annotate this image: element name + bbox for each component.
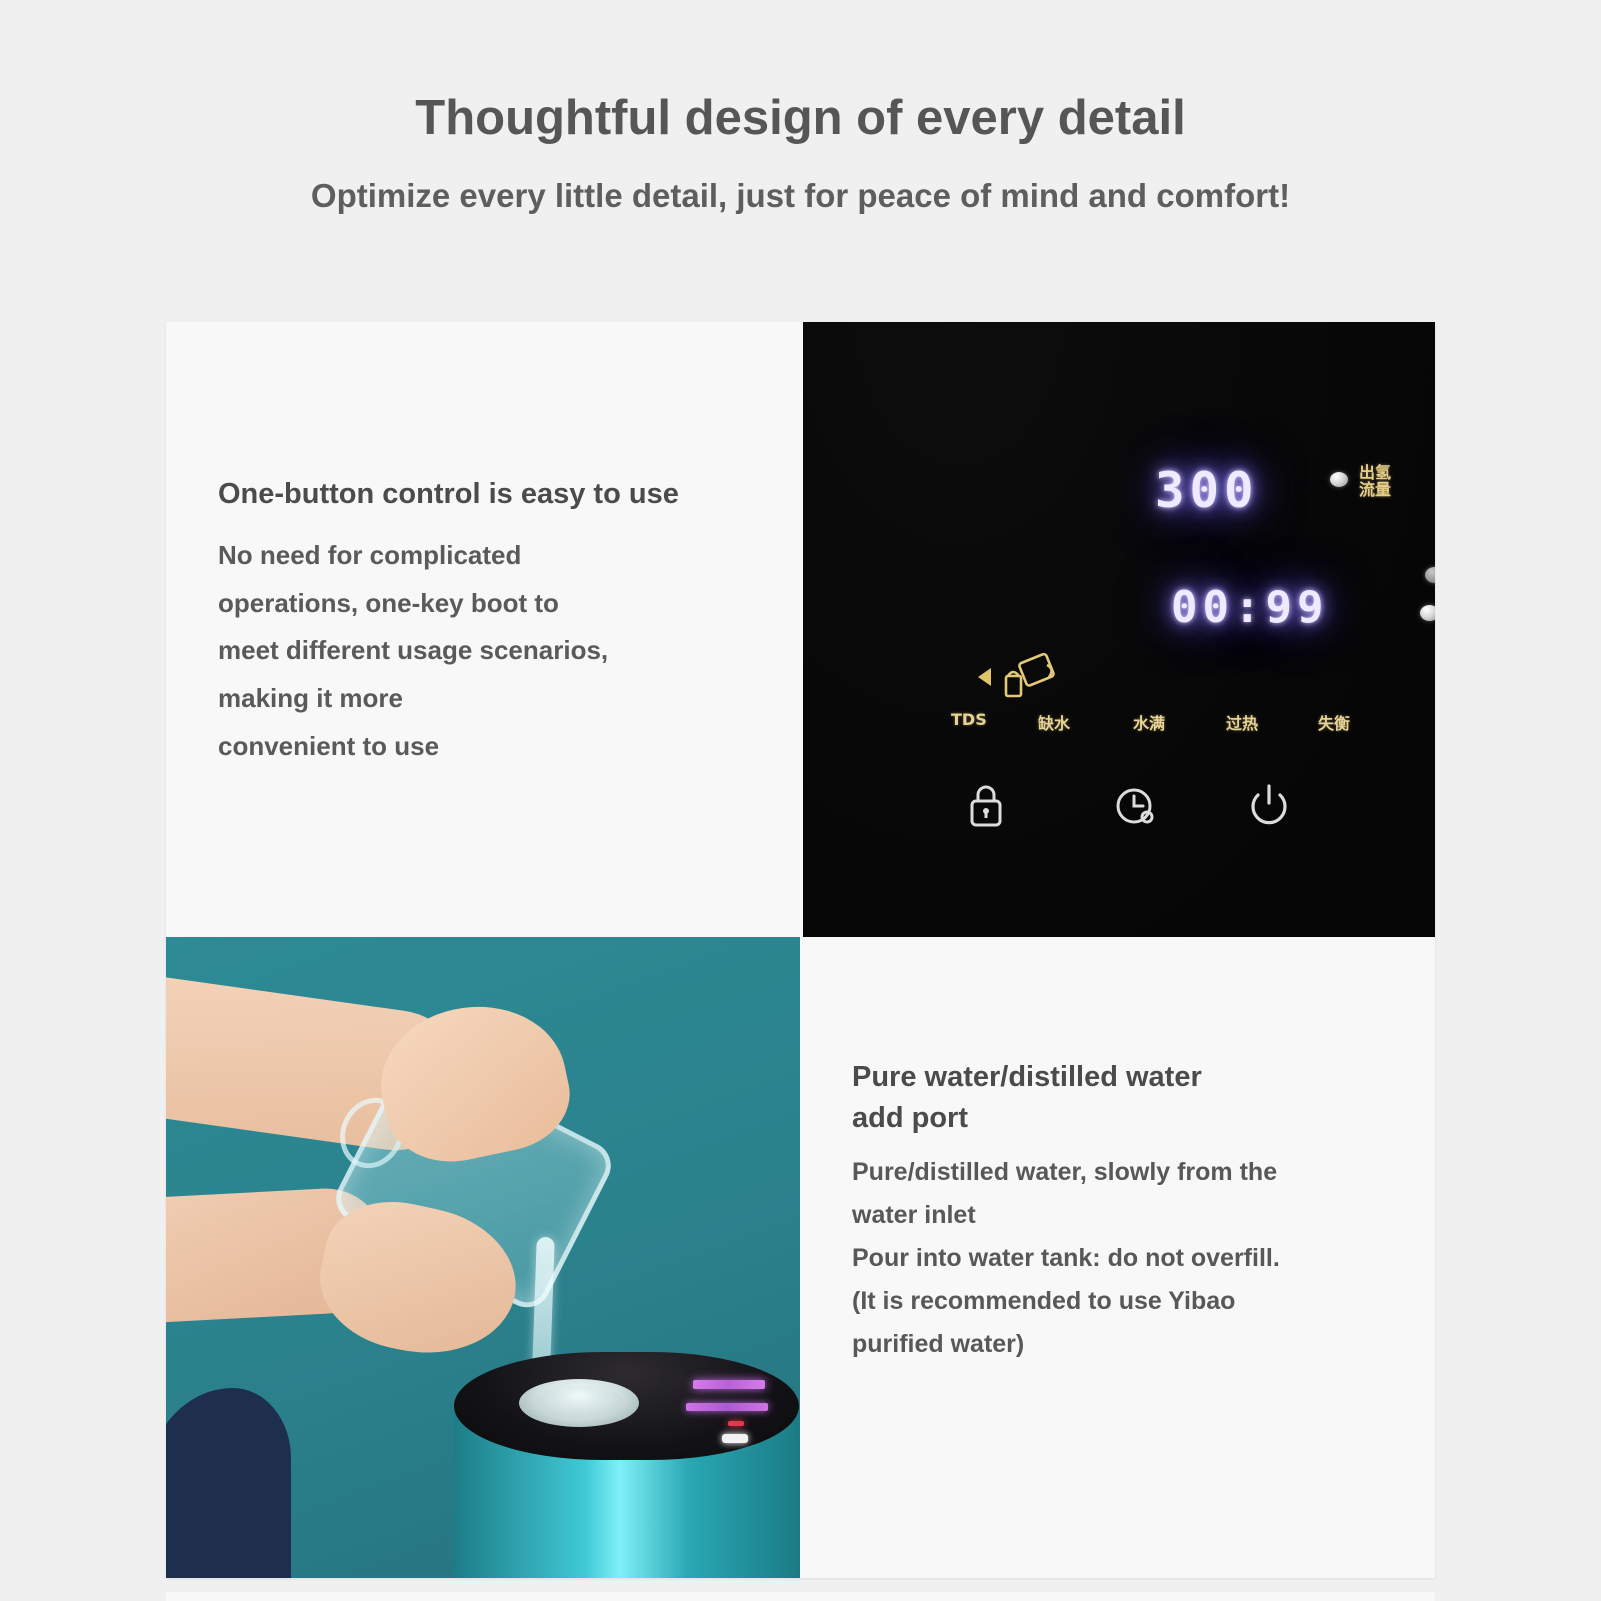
- status-label-tds: TDS: [951, 710, 987, 729]
- water-pouring-photo: [166, 937, 800, 1578]
- page-header: Thoughtful design of every detail Optimi…: [0, 0, 1601, 214]
- panel2-heading: Pure water/distilled water add port: [852, 1057, 1397, 1139]
- panel1-body-line: operations, one-key boot to: [218, 580, 818, 628]
- power-icon[interactable]: [1247, 782, 1293, 835]
- feature-panel-next-cropped: [166, 1592, 1435, 1601]
- status-label-imbalance: 失衡: [1318, 710, 1350, 734]
- water-inlet-inner: [535, 1386, 623, 1418]
- panel2-body-line: (It is recommended to use Yibao: [852, 1280, 1397, 1323]
- total-time-indicator-led: [1420, 605, 1435, 621]
- panel1-heading: One-button control is easy to use: [218, 477, 818, 512]
- panel1-body-line: convenient to use: [218, 723, 818, 771]
- panel1-body-line: making it more: [218, 675, 818, 723]
- panel2-body-line: Pour into water tank: do not overfill.: [852, 1237, 1397, 1280]
- device-led-red: [728, 1421, 744, 1426]
- panel1-text-block: One-button control is easy to use No nee…: [218, 477, 818, 771]
- lock-icon[interactable]: [965, 782, 1007, 835]
- panel2-body-line: purified water): [852, 1323, 1397, 1366]
- page-title: Thoughtful design of every detail: [0, 92, 1601, 146]
- timer-icon[interactable]: [1113, 784, 1161, 835]
- panel2-body-line: water inlet: [852, 1194, 1397, 1237]
- panel2-body-line: Pure/distilled water, slowly from the: [852, 1151, 1397, 1194]
- panel2-heading-line: Pure water/distilled water: [852, 1057, 1397, 1098]
- status-label-low-water: 缺水: [1038, 710, 1070, 734]
- product-detail-page: Thoughtful design of every detail Optimi…: [0, 0, 1601, 1601]
- left-triangle-marker: [978, 668, 991, 686]
- time-display: 00:99: [1171, 582, 1328, 633]
- hydrogen-flow-label: 出氢流量: [1359, 465, 1391, 499]
- person-shirt: [166, 1388, 291, 1578]
- panel1-body-line: No need for complicated: [218, 532, 818, 580]
- panel1-body: No need for complicated operations, one-…: [218, 532, 818, 771]
- control-panel-photo: 300 00:99 出氢流量 工作时间 累计时间: [803, 322, 1435, 940]
- panel1-body-line: meet different usage scenarios,: [218, 627, 818, 675]
- feature-panel-one-button-control: One-button control is easy to use No nee…: [166, 322, 1435, 940]
- touch-button-row: [803, 782, 1435, 872]
- panel2-heading-line: add port: [852, 1098, 1397, 1139]
- device-led-row-1: [693, 1380, 765, 1389]
- flow-indicator-led: [1330, 472, 1348, 487]
- feature-panel-water-add-port: Pure water/distilled water add port Pure…: [166, 937, 1435, 1578]
- device-led-row-2: [686, 1403, 768, 1411]
- status-label-overheat: 过热: [1226, 710, 1258, 734]
- page-subtitle: Optimize every little detail, just for p…: [0, 178, 1601, 214]
- status-label-full-water: 水满: [1133, 710, 1165, 734]
- panel2-body: Pure/distilled water, slowly from the wa…: [852, 1151, 1397, 1366]
- device-led-white: [722, 1434, 748, 1443]
- hydrogen-flow-display: 300: [1155, 462, 1259, 519]
- panel2-text-block: Pure water/distilled water add port Pure…: [852, 1057, 1397, 1366]
